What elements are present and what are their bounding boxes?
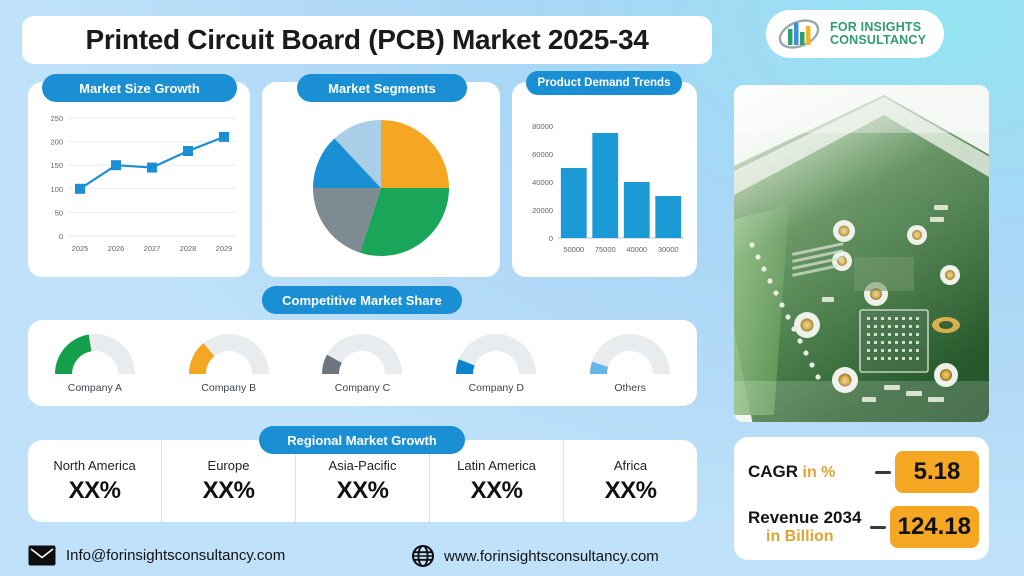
region-value: XX% (69, 477, 121, 505)
page-title-card: Printed Circuit Board (PCB) Market 2025-… (22, 16, 712, 64)
gauge-company-d (450, 328, 542, 378)
svg-text:200: 200 (50, 138, 63, 147)
region-value: XX% (605, 477, 657, 505)
pill-market-segments: Market Segments (297, 74, 467, 102)
footer-website-text: www.forinsightsconsultancy.com (444, 548, 659, 565)
kpi-cagr-label-accent: in % (803, 464, 836, 481)
kpi-dash-icon (870, 526, 886, 529)
svg-text:100: 100 (50, 185, 63, 194)
region-value: XX% (337, 477, 389, 505)
region-value: XX% (471, 477, 523, 505)
svg-text:2025: 2025 (72, 244, 89, 253)
kpi-revenue-label-accent: in Billion (748, 528, 866, 546)
page-title: Printed Circuit Board (PCB) Market 2025-… (85, 24, 648, 56)
svg-text:50000: 50000 (563, 245, 584, 254)
region-name: Europe (208, 458, 250, 473)
region-name: North America (53, 458, 135, 473)
pill-competitive-market-share: Competitive Market Share (262, 286, 462, 314)
product-demand-trends-card: 0200004000060000800005000075000400003000… (512, 82, 697, 277)
gauge-label: Others (614, 382, 646, 394)
footer-website[interactable]: www.forinsightsconsultancy.com (412, 545, 659, 567)
svg-text:2029: 2029 (216, 244, 233, 253)
logo-line-2: CONSULTANCY (830, 34, 926, 47)
kpi-cagr-value: 5.18 (895, 451, 979, 493)
market-segments-card (262, 82, 500, 277)
infographic-root: Printed Circuit Board (PCB) Market 2025-… (0, 0, 1024, 576)
globe-icon (412, 545, 434, 567)
kpi-cagr-label: CAGR in % (748, 462, 871, 482)
svg-text:60000: 60000 (532, 150, 553, 159)
gauge-label: Company A (68, 382, 122, 394)
gauge-company-c (316, 328, 408, 378)
gauge-label: Company B (201, 382, 256, 394)
gauge-cell: Company D (429, 328, 563, 394)
kpi-revenue-value: 124.18 (890, 506, 979, 548)
kpi-revenue-row: Revenue 2034 in Billion 124.18 (734, 501, 989, 553)
svg-text:30000: 30000 (658, 245, 679, 254)
svg-text:250: 250 (50, 114, 63, 123)
gauge-row: Company ACompany BCompany CCompany DOthe… (28, 320, 697, 406)
market-segments-chart (262, 108, 500, 273)
envelope-icon (28, 545, 56, 566)
svg-text:40000: 40000 (532, 178, 553, 187)
pill-regional-market-growth: Regional Market Growth (259, 426, 465, 454)
gauge-cell: Company A (28, 328, 162, 394)
competitive-market-share-card: Company ACompany BCompany CCompany DOthe… (28, 320, 697, 406)
svg-text:40000: 40000 (626, 245, 647, 254)
market-size-growth-chart: 05010015020025020252026202720282029 (28, 104, 250, 274)
gauge-label: Company D (469, 382, 524, 394)
region-value: XX% (203, 477, 255, 505)
footer-email[interactable]: Info@forinsightsconsultancy.com (28, 545, 285, 566)
kpi-cagr-row: CAGR in % 5.18 (734, 447, 989, 497)
region-cell: AfricaXX% (564, 440, 697, 522)
region-name: Asia-Pacific (329, 458, 397, 473)
svg-text:80000: 80000 (532, 122, 553, 131)
svg-text:150: 150 (50, 161, 63, 170)
gauge-company-b (183, 328, 275, 378)
svg-text:50: 50 (55, 208, 63, 217)
gauge-cell: Others (563, 328, 697, 394)
svg-text:20000: 20000 (532, 206, 553, 215)
kpi-dash-icon (875, 471, 891, 474)
pill-market-size-growth: Market Size Growth (42, 74, 237, 102)
svg-text:2026: 2026 (108, 244, 125, 253)
gauge-company-a (49, 328, 141, 378)
region-name: Africa (614, 458, 647, 473)
gauge-label: Company C (335, 382, 390, 394)
svg-text:2027: 2027 (144, 244, 161, 253)
svg-text:2028: 2028 (180, 244, 197, 253)
product-demand-trends-chart: 0200004000060000800005000075000400003000… (512, 104, 697, 276)
kpi-cagr-label-main: CAGR (748, 462, 798, 481)
svg-text:0: 0 (549, 234, 553, 243)
footer-email-text: Info@forinsightsconsultancy.com (66, 547, 285, 564)
kpi-revenue-label: Revenue 2034 in Billion (748, 508, 866, 546)
svg-text:0: 0 (59, 232, 63, 241)
market-size-growth-card: 05010015020025020252026202720282029 (28, 82, 250, 277)
pill-product-demand-trends: Product Demand Trends (526, 71, 682, 95)
pcb-circuit-board-photo (734, 85, 989, 422)
company-logo: FOR INSIGHTS CONSULTANCY (766, 10, 944, 58)
region-cell: North AmericaXX% (28, 440, 162, 522)
svg-text:75000: 75000 (595, 245, 616, 254)
kpi-revenue-label-main: Revenue 2034 (748, 508, 861, 527)
region-name: Latin America (457, 458, 536, 473)
gauge-cell: Company C (296, 328, 430, 394)
kpi-card: CAGR in % 5.18 Revenue 2034 in Billion 1… (734, 437, 989, 560)
bar-chart-orbit-icon (776, 15, 822, 53)
pcb-photo-card (734, 85, 989, 422)
gauge-others (584, 328, 676, 378)
gauge-cell: Company B (162, 328, 296, 394)
